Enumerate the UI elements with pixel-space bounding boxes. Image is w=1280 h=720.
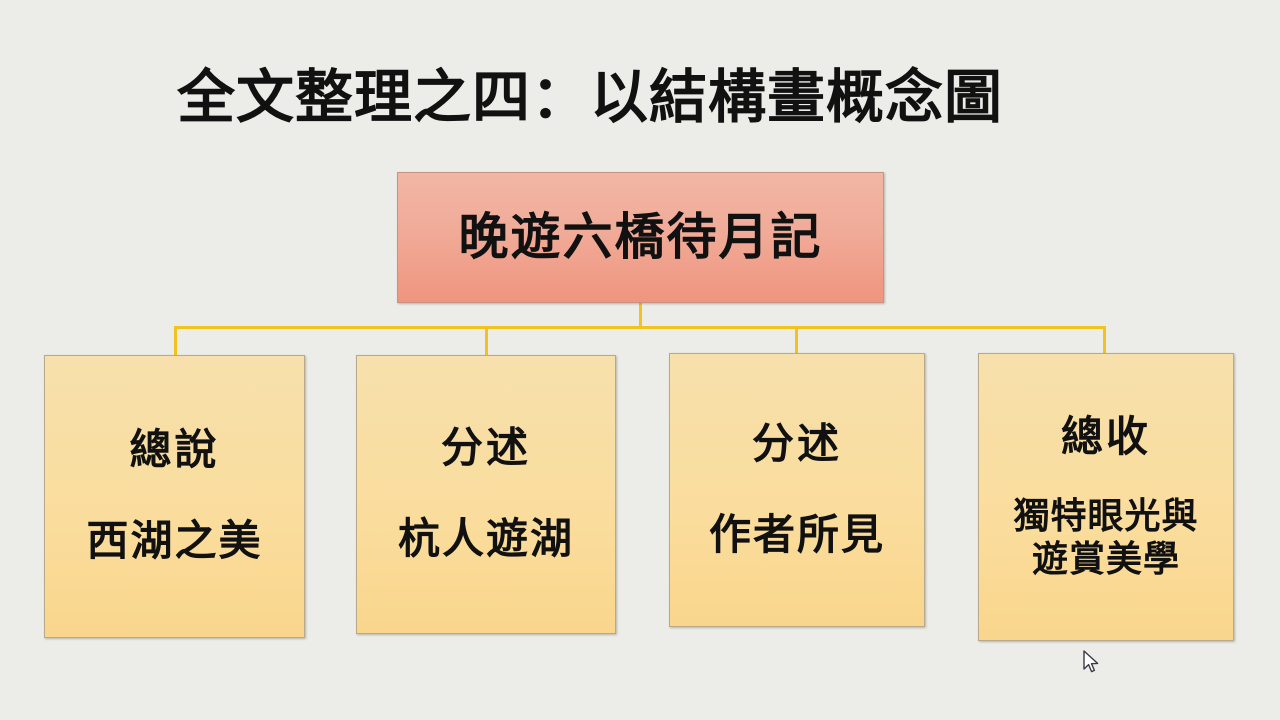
- slide-canvas: 全文整理之四：以結構畫概念圖 晚遊六橋待月記 總說 西湖之美 分述 杭人遊湖 分…: [0, 0, 1280, 720]
- root-node-label: 晚遊六橋待月記: [459, 210, 823, 265]
- child-3-heading: 分述: [752, 420, 842, 468]
- diagram-node-child-4[interactable]: 總收 獨特眼光與 遊賞美學: [978, 353, 1234, 641]
- child-2-heading: 分述: [441, 424, 531, 472]
- diagram-node-root[interactable]: 晚遊六橋待月記: [397, 172, 884, 303]
- mouse-cursor-icon: [1082, 650, 1102, 676]
- child-1-detail-line-1: 西湖之美: [86, 516, 262, 566]
- child-2-detail-line-1: 杭人遊湖: [398, 514, 574, 564]
- child-4-detail-line-2: 遊賞美學: [1032, 538, 1180, 581]
- child-3-detail-line-1: 作者所見: [709, 510, 885, 560]
- page-title: 全文整理之四：以結構畫概念圖: [0, 66, 1180, 130]
- child-4-detail-line-1: 獨特眼光與: [1013, 495, 1198, 538]
- diagram-node-child-1[interactable]: 總說 西湖之美: [44, 355, 305, 638]
- child-4-heading: 總收: [1061, 413, 1151, 461]
- child-1-heading: 總說: [129, 426, 219, 474]
- diagram-node-child-3[interactable]: 分述 作者所見: [669, 353, 925, 627]
- diagram-node-child-2[interactable]: 分述 杭人遊湖: [356, 355, 616, 634]
